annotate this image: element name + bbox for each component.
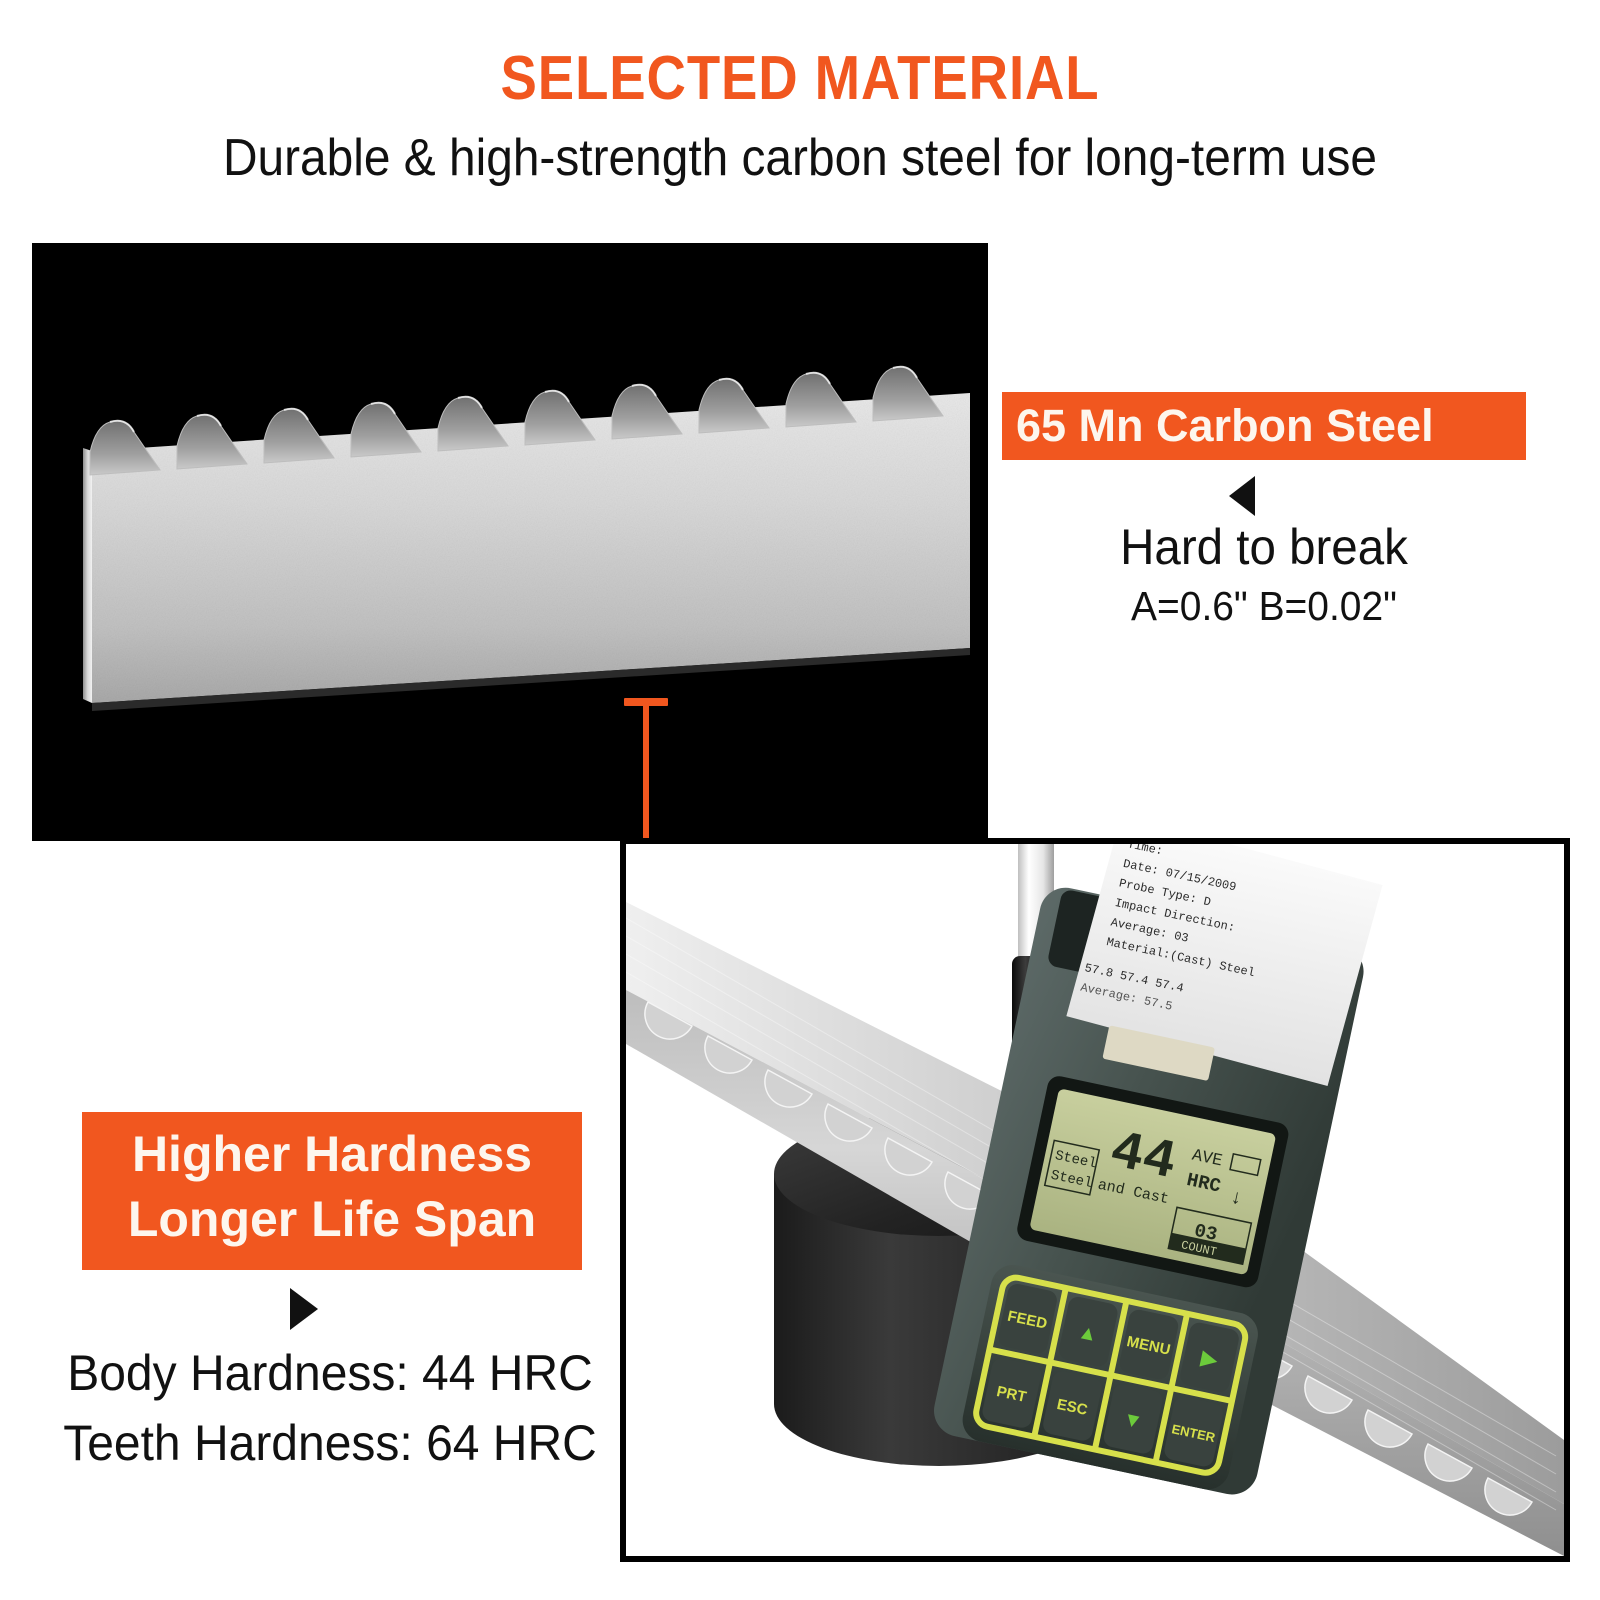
hardness-test-scene: HLD L83678 (626, 844, 1564, 1556)
header: SELECTED MATERIAL Durable & high-strengt… (0, 0, 1600, 215)
body-hardness-text: Body Hardness: 44 HRC (32, 1348, 627, 1398)
callout-dimensions: A=0.6" B=0.02" (1015, 586, 1513, 627)
badge-higher-hardness: Higher Hardness Longer Life Span (82, 1112, 582, 1270)
badge-hardness-line1: Higher Hardness (82, 1122, 582, 1187)
triangle-left-icon (1229, 476, 1255, 516)
teeth-hardness-text: Teeth Hardness: 64 HRC (32, 1418, 627, 1468)
callout-hard-to-break: Hard to break (1015, 522, 1513, 572)
hardness-test-photo-panel: HLD L83678 (620, 838, 1570, 1562)
dimension-a-line (643, 698, 649, 841)
triangle-right-icon (290, 1288, 318, 1330)
page-title: SELECTED MATERIAL (96, 48, 1504, 110)
badge-carbon-steel: 65 Mn Carbon Steel (1002, 392, 1526, 460)
badge-hardness-line2: Longer Life Span (82, 1187, 582, 1252)
dimension-a-cap-top (624, 698, 668, 706)
blade-macro-panel: A B (32, 243, 988, 841)
blade-graphic (32, 243, 988, 841)
page-subtitle: Durable & high-strength carbon steel for… (64, 132, 1536, 184)
blade-illustration (32, 243, 988, 841)
